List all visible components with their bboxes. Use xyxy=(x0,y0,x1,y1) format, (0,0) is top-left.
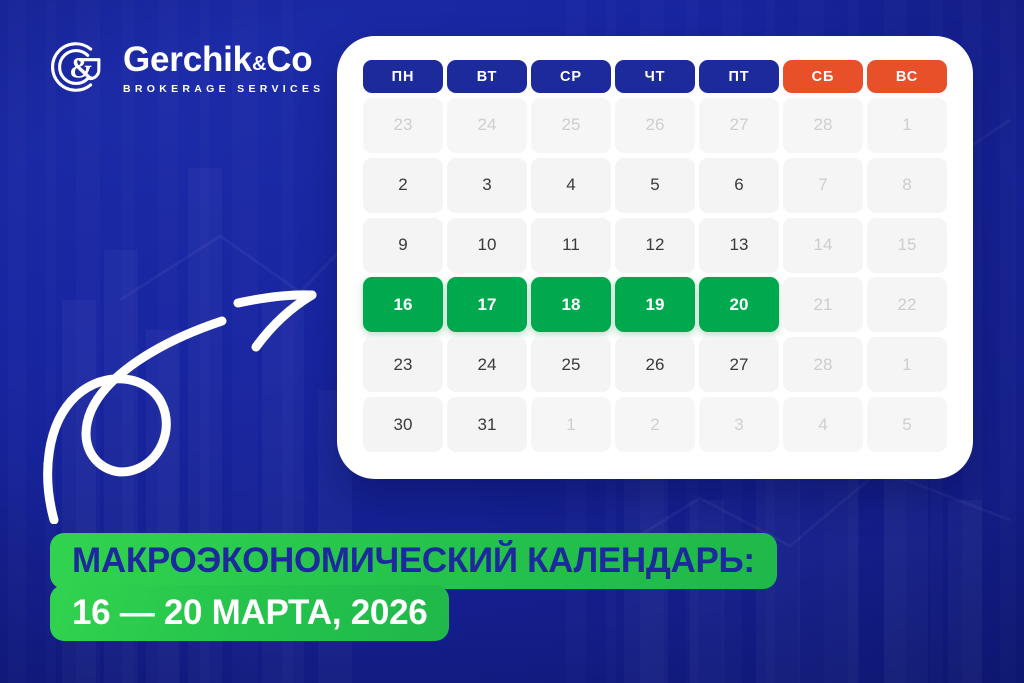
calendar-day[interactable]: 8 xyxy=(867,158,947,213)
calendar-day-selected[interactable]: 20 xyxy=(699,277,779,332)
calendar-day[interactable]: 1 xyxy=(867,337,947,392)
calendar-day[interactable]: 9 xyxy=(363,218,443,273)
calendar-day[interactable]: 31 xyxy=(447,397,527,452)
calendar-day[interactable]: 1 xyxy=(531,397,611,452)
calendar-day[interactable]: 24 xyxy=(447,98,527,153)
calendar-day[interactable]: 4 xyxy=(783,397,863,452)
calendar-day[interactable]: 23 xyxy=(363,337,443,392)
calendar-day[interactable]: 3 xyxy=(699,397,779,452)
weekday-header-СБ: СБ xyxy=(783,60,863,93)
calendar-day[interactable]: 26 xyxy=(615,337,695,392)
calendar-day-selected[interactable]: 16 xyxy=(363,277,443,332)
headline-line1-text: МАКРОЭКОНОМИЧЕСКИЙ КАЛЕНДАРЬ: xyxy=(72,541,755,581)
curly-arrow-up-right-icon xyxy=(36,262,336,524)
calendar-day[interactable]: 24 xyxy=(447,337,527,392)
brand-name-main: Gerchik xyxy=(123,40,252,79)
calendar-day[interactable]: 1 xyxy=(867,98,947,153)
calendar-day[interactable]: 12 xyxy=(615,218,695,273)
calendar-day[interactable]: 25 xyxy=(531,337,611,392)
calendar-day[interactable]: 5 xyxy=(867,397,947,452)
headline-banner-line2: 16 — 20 МАРТА, 2026 xyxy=(50,585,449,641)
weekday-header-ПТ: ПТ xyxy=(699,60,779,93)
calendar-day[interactable]: 14 xyxy=(783,218,863,273)
calendar-day[interactable]: 27 xyxy=(699,98,779,153)
brand-name-tail: Co xyxy=(266,40,312,79)
calendar-day[interactable]: 7 xyxy=(783,158,863,213)
calendar-day[interactable]: 27 xyxy=(699,337,779,392)
calendar-day-selected[interactable]: 17 xyxy=(447,277,527,332)
calendar-day[interactable]: 25 xyxy=(531,98,611,153)
calendar-day[interactable]: 10 xyxy=(447,218,527,273)
calendar-day[interactable]: 26 xyxy=(615,98,695,153)
brand-tagline: BROKERAGE SERVICES xyxy=(123,84,324,95)
brand-name: Gerchik&Co xyxy=(123,42,324,77)
calendar-day[interactable]: 21 xyxy=(783,277,863,332)
gerchik-monogram-icon: & xyxy=(48,36,110,98)
calendar-day[interactable]: 30 xyxy=(363,397,443,452)
calendar-grid: ПНВТСРЧТПТСБВС23242526272812345678910111… xyxy=(363,60,947,453)
calendar-day[interactable]: 5 xyxy=(615,158,695,213)
calendar-day-selected[interactable]: 18 xyxy=(531,277,611,332)
calendar-card: ПНВТСРЧТПТСБВС23242526272812345678910111… xyxy=(337,36,973,479)
headline-line2-text: 16 — 20 МАРТА, 2026 xyxy=(72,593,427,633)
calendar-day[interactable]: 2 xyxy=(615,397,695,452)
calendar-day-selected[interactable]: 19 xyxy=(615,277,695,332)
svg-text:&: & xyxy=(69,53,93,85)
brand-logo: & Gerchik&Co BROKERAGE SERVICES xyxy=(48,36,324,98)
weekday-header-ПН: ПН xyxy=(363,60,443,93)
brand-name-ampersand: & xyxy=(252,53,266,75)
calendar-day[interactable]: 6 xyxy=(699,158,779,213)
weekday-header-СР: СР xyxy=(531,60,611,93)
calendar-day[interactable]: 28 xyxy=(783,98,863,153)
calendar-day[interactable]: 13 xyxy=(699,218,779,273)
calendar-day[interactable]: 28 xyxy=(783,337,863,392)
calendar-day[interactable]: 22 xyxy=(867,277,947,332)
calendar-day[interactable]: 11 xyxy=(531,218,611,273)
weekday-header-ВС: ВС xyxy=(867,60,947,93)
calendar-day[interactable]: 15 xyxy=(867,218,947,273)
calendar-day[interactable]: 23 xyxy=(363,98,443,153)
headline-banner-line1: МАКРОЭКОНОМИЧЕСКИЙ КАЛЕНДАРЬ: xyxy=(50,533,777,589)
calendar-day[interactable]: 2 xyxy=(363,158,443,213)
weekday-header-ЧТ: ЧТ xyxy=(615,60,695,93)
poster-canvas: & Gerchik&Co BROKERAGE SERVICES ПНВТСРЧТ… xyxy=(0,0,1024,683)
weekday-header-ВТ: ВТ xyxy=(447,60,527,93)
calendar-day[interactable]: 4 xyxy=(531,158,611,213)
calendar-day[interactable]: 3 xyxy=(447,158,527,213)
